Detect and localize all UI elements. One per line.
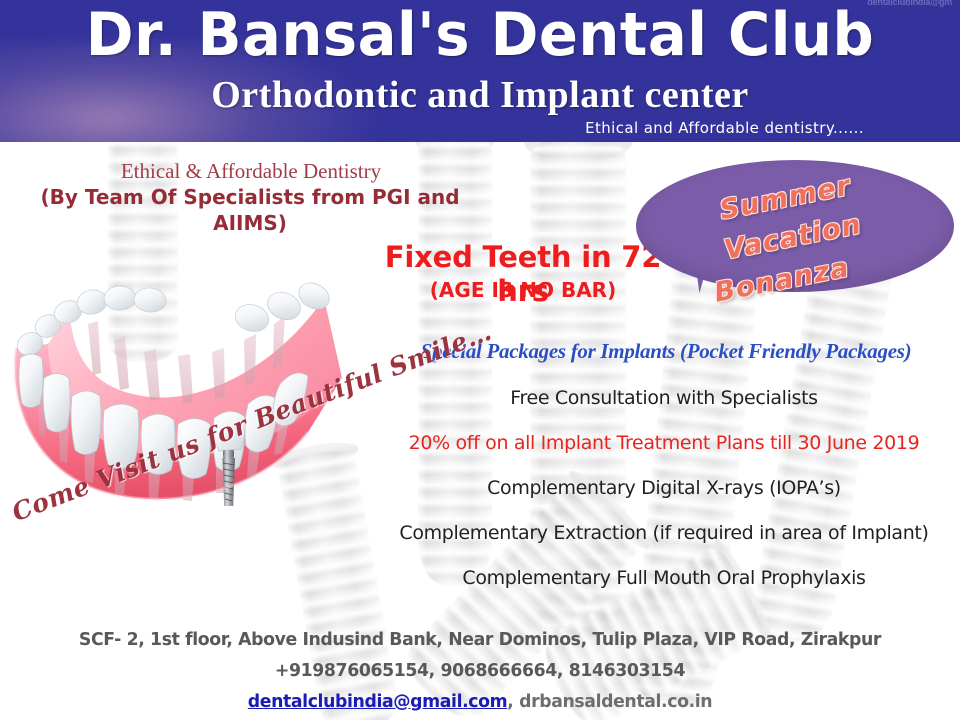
- offer-item: Complementary Extraction (if required in…: [368, 511, 960, 556]
- email-link[interactable]: dentalclubindia@gmail.com: [248, 691, 508, 712]
- clinic-subtitle: Orthodontic and Implant center: [0, 74, 960, 116]
- offer-item: 20% off on all Implant Treatment Plans t…: [368, 421, 960, 466]
- intro-line-specialists: (By Team Of Specialists from PGI and AII…: [20, 184, 480, 236]
- offer-item: Complementary Digital X-rays (IOPA’s): [368, 466, 960, 511]
- footer-separator: ,: [507, 691, 519, 712]
- dental-clinic-poster: dentalclubindia@gm Dr. Bansal's Dental C…: [0, 0, 960, 720]
- offer-item: Complementary Full Mouth Oral Prophylaxi…: [368, 556, 960, 601]
- website-link[interactable]: drbansaldental.co.in: [519, 691, 712, 712]
- footer-email-web: dentalclubindia@gmail.com, drbansaldenta…: [19, 686, 941, 717]
- footer-contact-block: SCF- 2, 1st floor, Above Indusind Bank, …: [0, 624, 960, 717]
- offers-list: Free Consultation with Specialists 20% o…: [368, 376, 960, 601]
- clinic-tagline: Ethical and Affordable dentistry......: [585, 119, 864, 137]
- summer-promo-callout: Summer Vacation Bonanza: [628, 158, 958, 318]
- footer-phones: +919876065154, 9068666664, 8146303154: [19, 655, 941, 686]
- intro-line-ethical: Ethical & Affordable Dentistry: [96, 158, 406, 184]
- offer-item: Free Consultation with Specialists: [368, 376, 960, 421]
- footer-address: SCF- 2, 1st floor, Above Indusind Bank, …: [19, 624, 941, 655]
- headline-age-no-bar: (AGE IS NO BAR): [378, 278, 668, 302]
- header-banner: dentalclubindia@gm Dr. Bansal's Dental C…: [0, 0, 960, 142]
- clinic-name-title: Dr. Bansal's Dental Club: [19, 2, 941, 68]
